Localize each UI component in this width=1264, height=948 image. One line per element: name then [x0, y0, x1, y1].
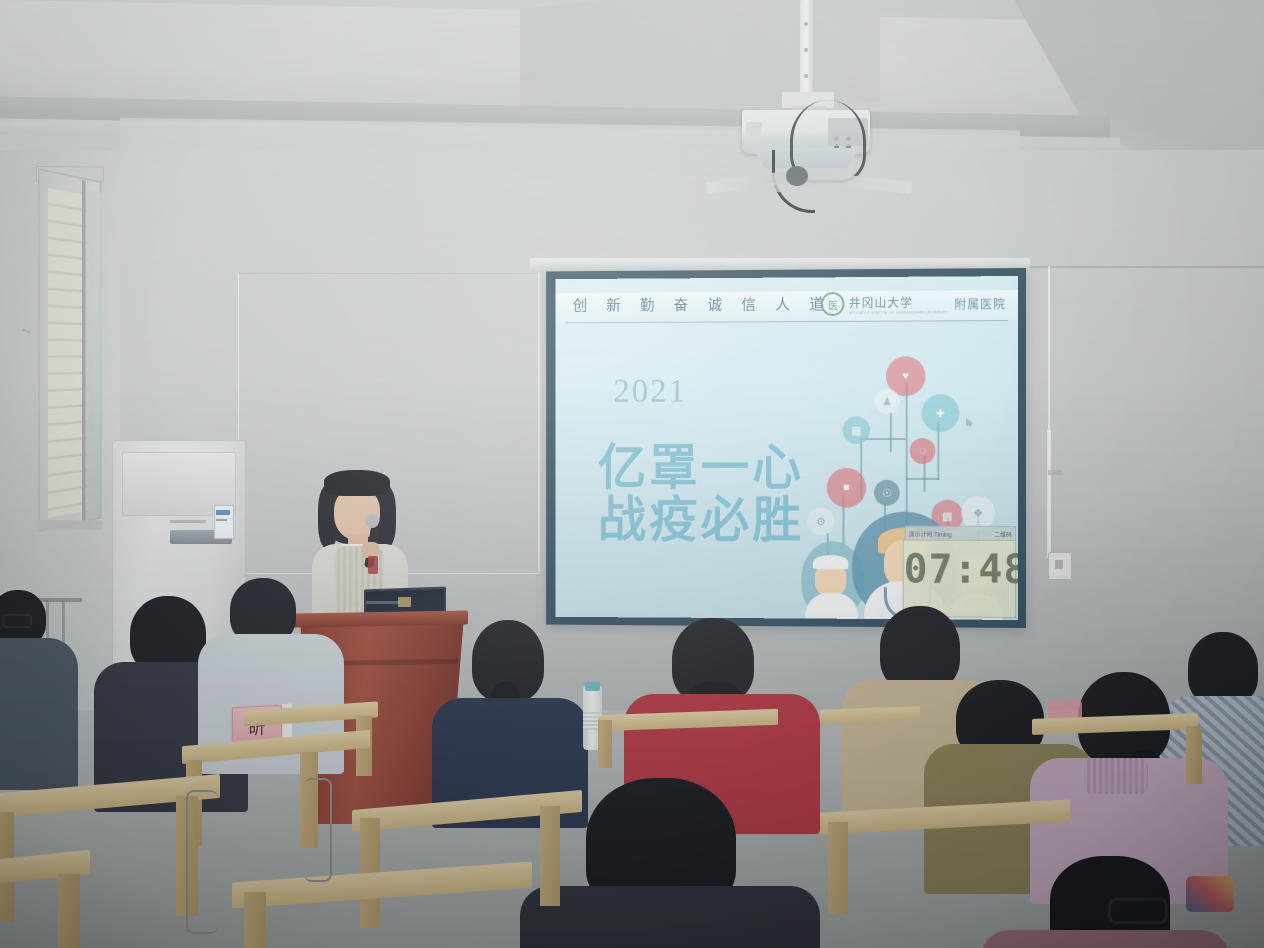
capsule-icon: ◌: [910, 438, 936, 464]
turtleneck-collar: [1084, 758, 1148, 794]
window-sill: [36, 520, 102, 530]
logo-english-name: AFFILIATED HOSPITAL OF JINGGANGSHAN UNIV…: [849, 310, 948, 315]
nurse-left-cap: [813, 555, 848, 569]
projector-lens: [746, 122, 762, 140]
projection-screen-surface[interactable]: 创 新 勤 奋 诚 信 人 道 医 井冈山大学 AFFILIATED HOSPI…: [555, 276, 1018, 620]
blood-bag-icon: ■: [827, 468, 866, 508]
eyeglasses-icon: [2, 614, 32, 628]
presentation-slide: 创 新 勤 奋 诚 信 人 道 医 井冈山大学 AFFILIATED HOSPI…: [555, 276, 1018, 620]
slide-title-line-1: 亿罩一心: [598, 442, 804, 494]
first-aid-kit-icon: ✚: [922, 394, 960, 432]
laptop-screen-glare: [366, 601, 400, 604]
presenter-badge: [368, 556, 378, 574]
presenter-bangs: [324, 470, 390, 496]
audience-body: [980, 930, 1230, 948]
audience-body: [0, 638, 78, 790]
wall-outlet-socket: [1055, 560, 1063, 569]
logo-university-name: 井冈山大学: [849, 293, 948, 310]
timer-value: 07:48: [904, 547, 1015, 593]
slide-title-line-2: 战疫必胜: [598, 494, 804, 546]
ac-label-bar-2: [216, 519, 227, 521]
desk-leg: [58, 874, 80, 948]
window-glass: [86, 190, 102, 520]
iv-drip-icon: ▦: [843, 416, 871, 444]
logo-department-name: 附属医院: [954, 295, 1006, 312]
audience-body: [520, 886, 820, 948]
virus-icon: ❖: [961, 496, 995, 530]
water-bottle-cap: [585, 682, 600, 691]
timer-bar-label: 演示计时 Timing: [909, 529, 952, 538]
wall-panel-seam-right: [538, 272, 540, 572]
desk-leg: [244, 892, 266, 948]
stethoscope-icon: ☉: [874, 480, 900, 506]
wall-switch[interactable]: [1048, 470, 1062, 475]
timer-bar-right-label: 二维码: [994, 529, 1012, 538]
wall-seam-right: [1018, 266, 1264, 268]
laptop-sticker: [398, 597, 411, 607]
logo-name-block: 井冈山大学 AFFILIATED HOSPITAL OF JINGGANGSHA…: [849, 293, 948, 314]
desk-leg: [598, 720, 612, 768]
table-row: [232, 862, 532, 909]
slide-title: 亿罩一心 战疫必胜: [598, 442, 804, 546]
logo-emblem-icon: 医: [821, 292, 845, 316]
patterned-scarf: [1186, 876, 1234, 912]
ac-brand-strip: [170, 520, 206, 523]
window-mullion: [82, 180, 86, 528]
ceiling-fan-hub: [786, 166, 808, 186]
tooth-icon: ♟: [874, 388, 900, 414]
chair-frame[interactable]: [304, 778, 332, 882]
slide-motto: 创 新 勤 奋 诚 信 人 道: [573, 293, 832, 315]
wall-conduit: [1047, 430, 1051, 558]
hospital-logo: 医 井冈山大学 AFFILIATED HOSPITAL OF JINGGANGS…: [821, 291, 1006, 316]
eyeglasses-icon: [1108, 898, 1168, 924]
wall-panel-seam-top: [238, 272, 540, 274]
ac-label-bar: [216, 510, 230, 515]
desk-leg: [1186, 726, 1202, 784]
classroom-scene: floor-standing-ac-unit 创 新 勤 奋 诚 信 人 道: [0, 0, 1264, 948]
microphone-head-icon: [365, 514, 379, 528]
slide-year: 2021: [613, 373, 687, 411]
desk-leg: [540, 806, 560, 906]
chair-frame[interactable]: [186, 790, 218, 934]
desk-leg: [828, 822, 848, 914]
pill-bottle-icon: ⚙: [807, 507, 835, 535]
projector-mount-pole: [800, 0, 813, 100]
